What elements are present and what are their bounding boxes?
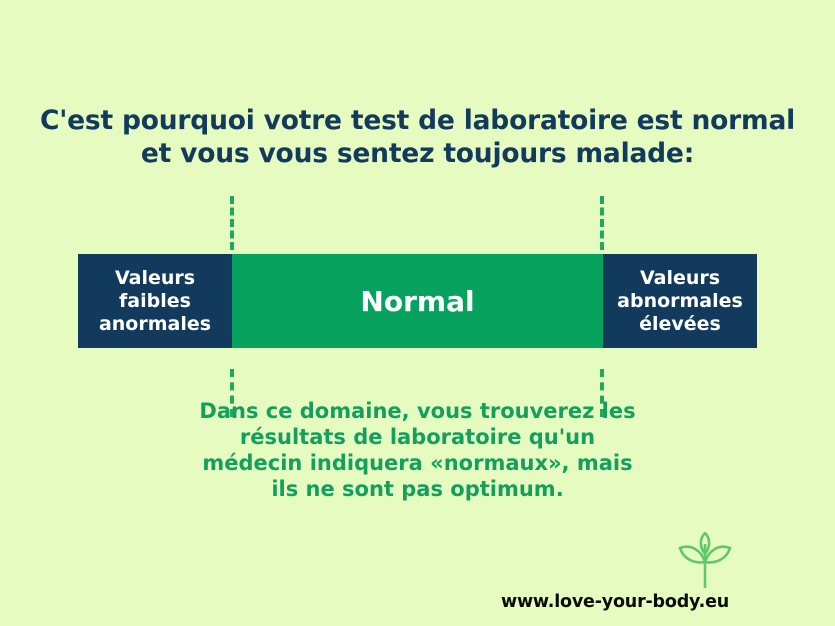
guide-line-right-top — [600, 196, 604, 250]
bar-segment-low-abnormal: Valeurs faibles anormales — [78, 254, 232, 348]
page-title: C'est pourquoi votre test de laboratoire… — [0, 104, 835, 170]
page-title-line2: et vous vous sentez toujours malade: — [0, 137, 835, 170]
bar-segment-normal: Normal — [232, 254, 603, 348]
guide-line-left-top — [230, 196, 234, 250]
normal-range-caption: Dans ce domaine, vous trouverez les résu… — [190, 398, 645, 502]
site-url: www.love-your-body.eu — [435, 592, 795, 612]
lab-range-bar: Valeurs faibles anormales Normal Valeurs… — [78, 254, 757, 348]
page-title-line1: C'est pourquoi votre test de laboratoire… — [40, 105, 795, 136]
leaf-logo — [667, 532, 743, 594]
bar-segment-high-abnormal: Valeurs abnormales élevées — [603, 254, 757, 348]
infographic-canvas: C'est pourquoi votre test de laboratoire… — [0, 0, 835, 626]
